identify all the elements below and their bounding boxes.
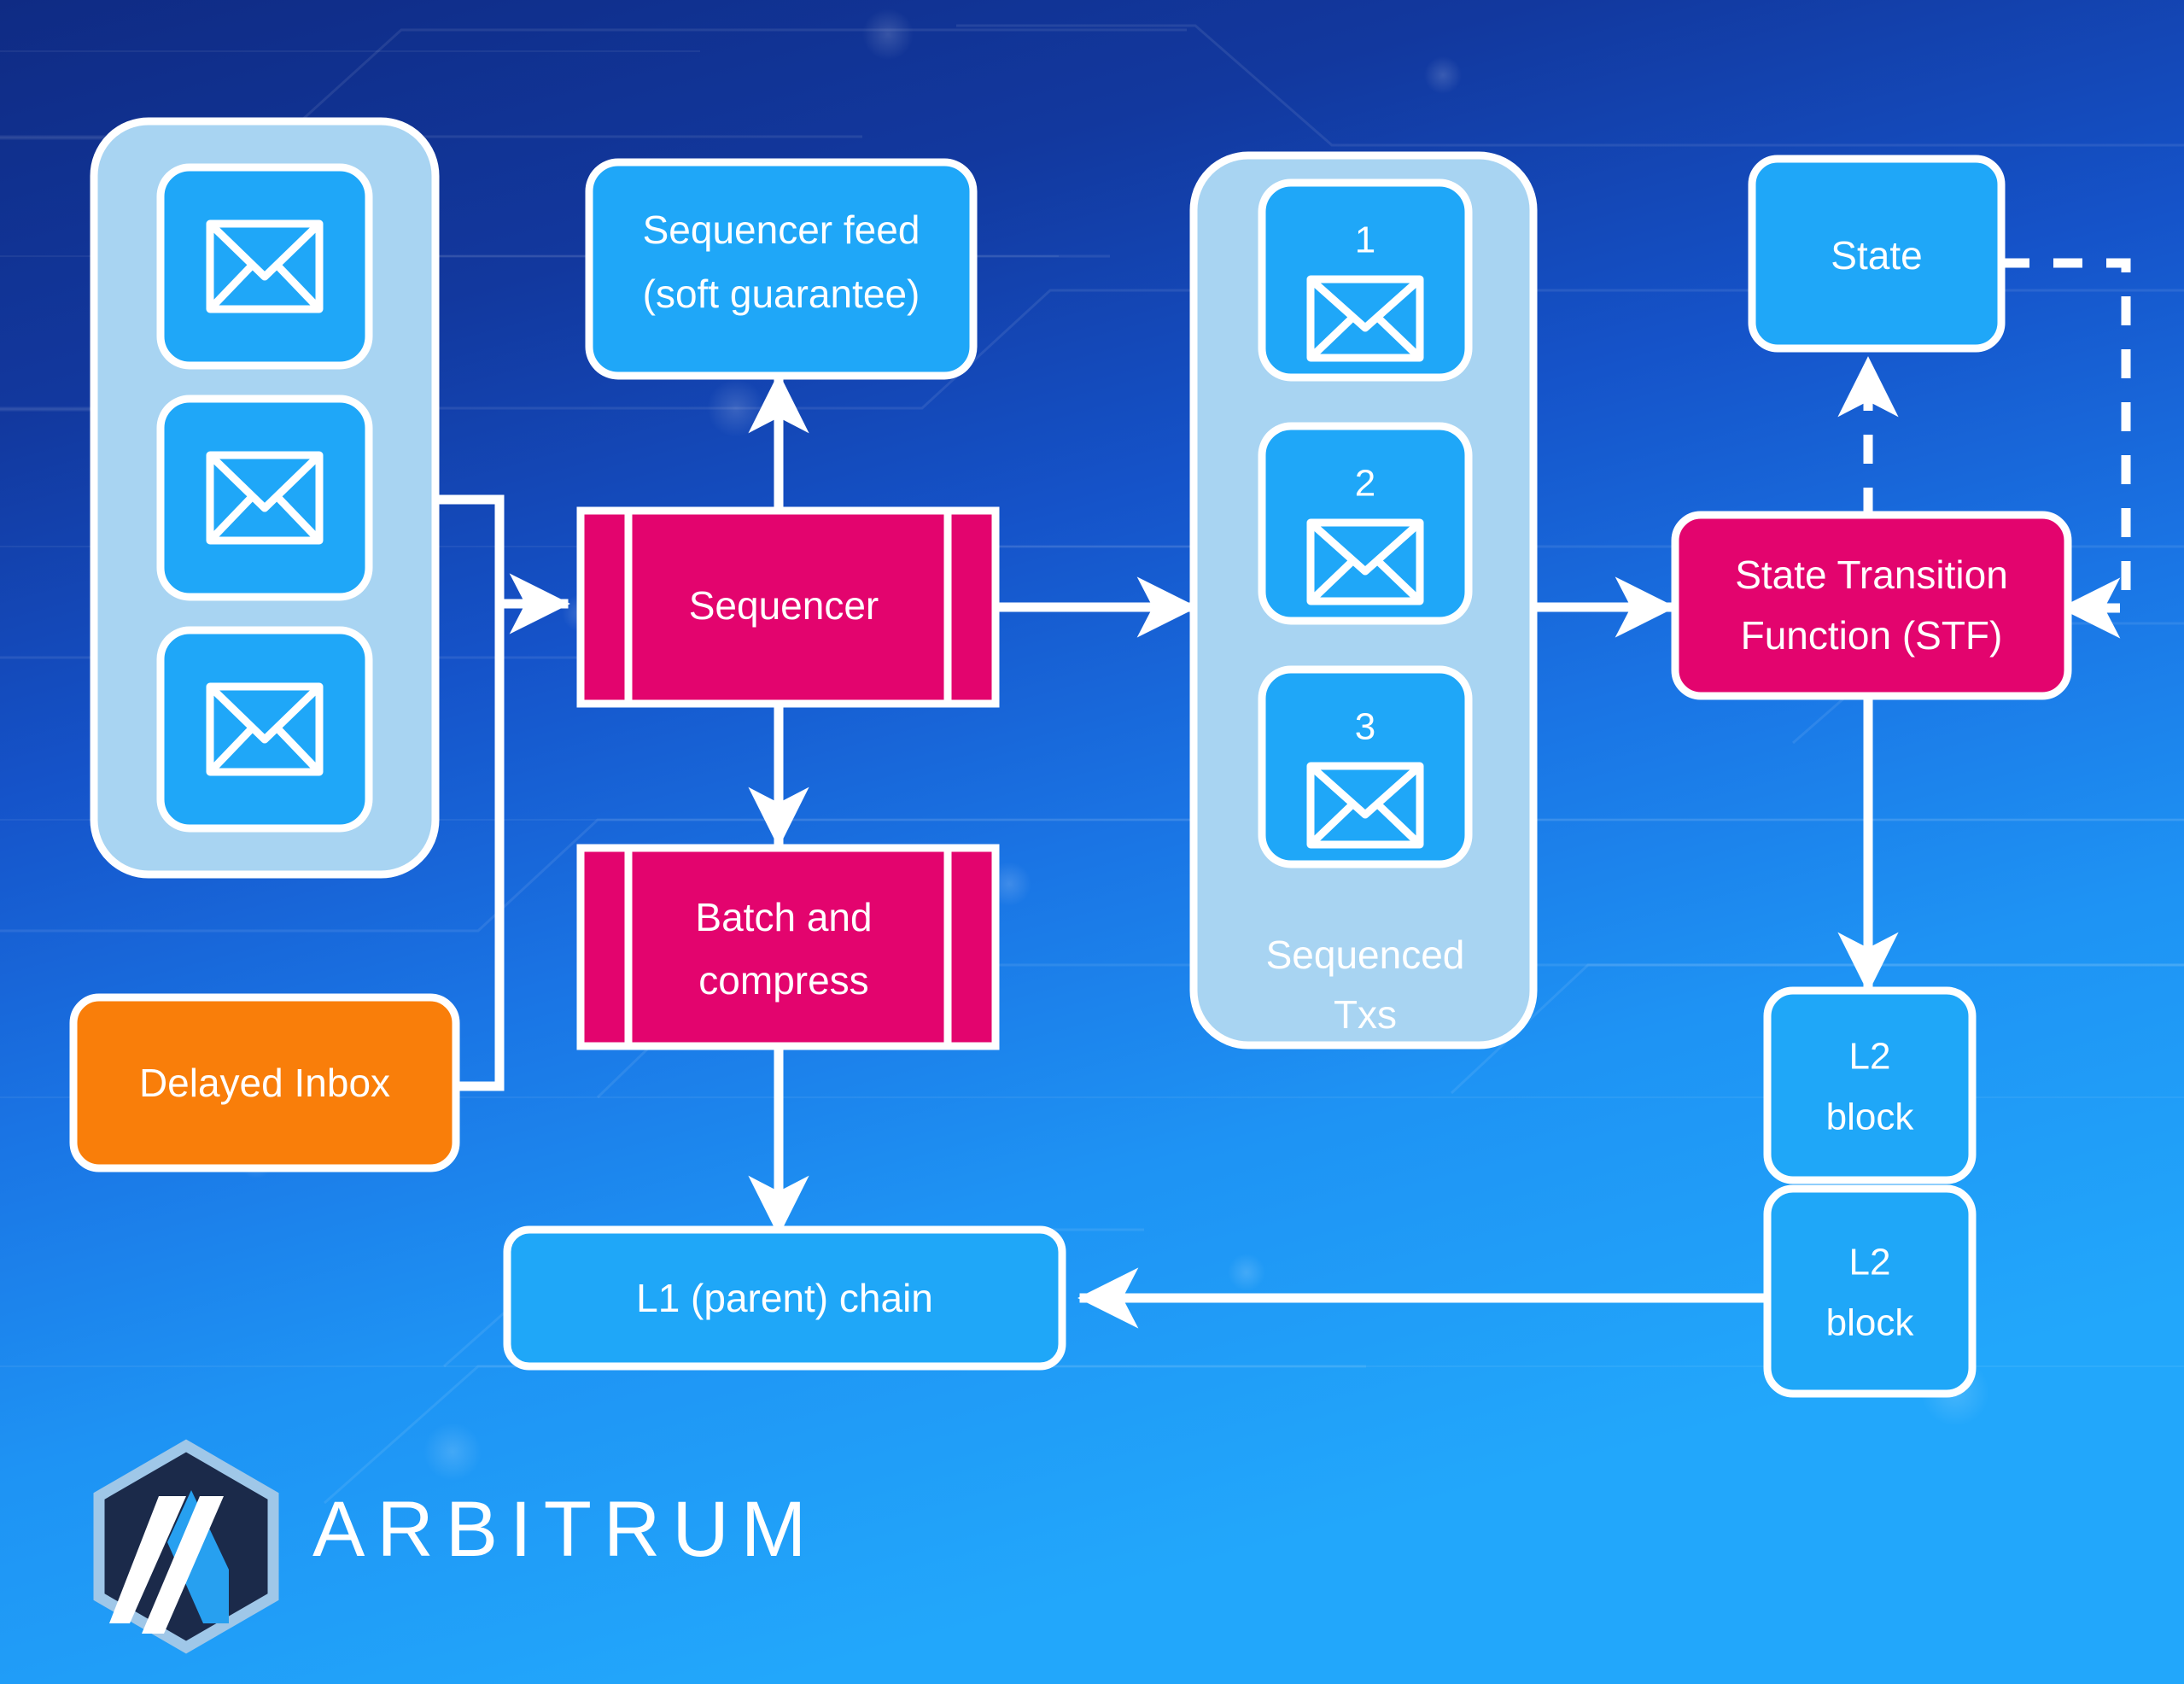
inbox-group[interactable] bbox=[94, 121, 435, 874]
l1-chain-node[interactable]: L1 (parent) chain bbox=[507, 1230, 1062, 1366]
stf-label-line1: State Transition bbox=[1735, 553, 2008, 597]
l2-block-top-node[interactable]: L2 block bbox=[1767, 991, 1972, 1180]
l2-block-top-label-line2: block bbox=[1826, 1096, 1915, 1138]
batch-compress-label-line1: Batch and bbox=[695, 895, 872, 939]
sequenced-tx-item[interactable]: 2 bbox=[1262, 426, 1469, 621]
inbox-item[interactable] bbox=[161, 399, 369, 597]
stf-box bbox=[1675, 515, 2068, 696]
sequenced-tx-badge: 2 bbox=[1355, 463, 1375, 505]
inbox-item[interactable] bbox=[161, 630, 369, 828]
sequenced-tx-item[interactable]: 1 bbox=[1262, 183, 1469, 377]
l2-block-bottom-node[interactable]: L2 block bbox=[1767, 1189, 1972, 1394]
batch-compress-label-line2: compress bbox=[698, 958, 868, 1003]
l2-block-top-label-line1: L2 bbox=[1849, 1036, 1891, 1078]
l1-chain-label: L1 (parent) chain bbox=[636, 1276, 933, 1320]
inbox-item[interactable] bbox=[161, 167, 369, 365]
sequenced-txs-group[interactable]: 1 2 3 bbox=[1194, 155, 1533, 1045]
sequenced-tx-badge: 3 bbox=[1355, 706, 1375, 748]
sequenced-txs-caption-line2: Txs bbox=[1334, 992, 1397, 1037]
l2-block-bottom-label-line1: L2 bbox=[1849, 1242, 1891, 1283]
arbitrum-wordmark: ARBITRUM bbox=[312, 1486, 818, 1573]
stf-node[interactable]: State Transition Function (STF) bbox=[1675, 515, 2068, 696]
batch-compress-box bbox=[581, 848, 996, 1046]
inbox-item-tile bbox=[161, 399, 369, 597]
arbitrum-logo-icon bbox=[99, 1446, 273, 1647]
sequencer-feed-label-line2: (soft guarantee) bbox=[643, 272, 920, 316]
sequenced-txs-caption-line1: Sequenced bbox=[1266, 933, 1465, 977]
l2-block-top-box bbox=[1767, 991, 1972, 1180]
stf-label-line2: Function (STF) bbox=[1741, 613, 2003, 658]
sequencer-feed-label-line1: Sequencer feed bbox=[643, 208, 920, 252]
sequenced-tx-badge: 1 bbox=[1355, 219, 1375, 261]
sequencer-label: Sequencer bbox=[689, 583, 879, 628]
state-label: State bbox=[1831, 233, 1922, 278]
l2-block-bottom-box bbox=[1767, 1189, 1972, 1394]
batch-compress-node[interactable]: Batch and compress bbox=[581, 848, 996, 1046]
sequencer-feed-node[interactable]: Sequencer feed (soft guarantee) bbox=[589, 162, 973, 376]
l2-block-bottom-label-line2: block bbox=[1826, 1302, 1915, 1344]
arbitrum-brand: ARBITRUM bbox=[99, 1446, 818, 1647]
delayed-inbox-node[interactable]: Delayed Inbox bbox=[73, 997, 456, 1168]
diagram-canvas: Sequencer feed (soft guarantee) Sequence… bbox=[0, 0, 2184, 1684]
sequencer-node[interactable]: Sequencer bbox=[581, 511, 996, 704]
state-node[interactable]: State bbox=[1752, 159, 2001, 348]
delayed-inbox-label: Delayed Inbox bbox=[139, 1061, 390, 1105]
inbox-item-tile bbox=[161, 167, 369, 365]
sequenced-tx-item[interactable]: 3 bbox=[1262, 670, 1469, 864]
inbox-item-tile bbox=[161, 630, 369, 828]
sequencer-feed-box bbox=[589, 162, 973, 376]
diagram-layer: Sequencer feed (soft guarantee) Sequence… bbox=[0, 0, 2184, 1684]
